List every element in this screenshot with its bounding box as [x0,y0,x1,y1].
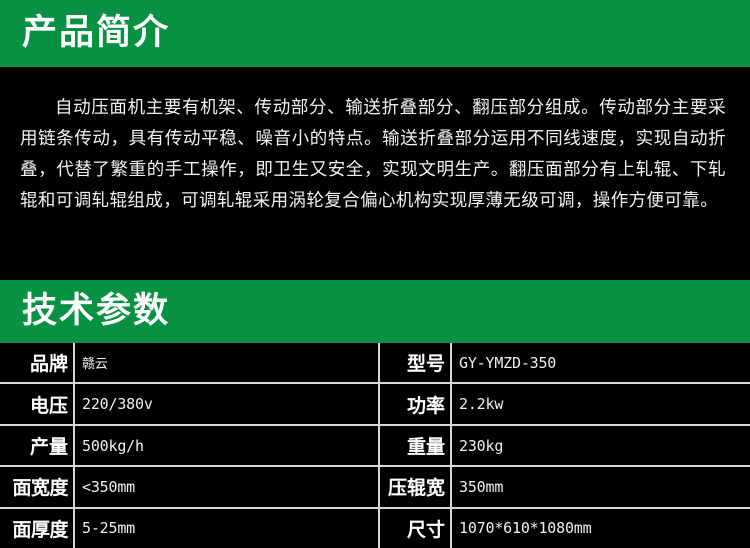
intro-section-title: 产品简介 [22,16,170,51]
table-row-left-pair: 面厚度5-25mm [0,509,378,548]
spec-value-right: 350mm [450,467,750,506]
spec-label-right: 重量 [378,426,450,465]
spec-value-right: 230kg [450,426,750,465]
table-row: 品牌赣云型号GY-YMZD-350 [0,343,750,382]
table-row-left-pair: 品牌赣云 [0,343,378,382]
spec-label-left: 产量 [0,426,73,465]
spec-value-right: 2.2kw [450,384,750,423]
spec-value-left: <350mm [73,467,378,506]
specs-section-title: 技术参数 [22,294,170,329]
spec-label-right: 功率 [378,384,450,423]
specs-section-banner: 技术参数 [0,280,750,343]
spec-value-left: 500kg/h [73,426,378,465]
table-row-right-pair: 重量230kg [378,426,750,465]
table-row: 产量500kg/h重量230kg [0,424,750,465]
spec-label-left: 品牌 [0,343,73,382]
table-row: 面宽度<350mm压辊宽350mm [0,465,750,506]
spec-value-left: 5-25mm [73,509,378,548]
spec-value-left: 赣云 [73,343,378,382]
spec-label-left: 电压 [0,384,73,423]
intro-paragraph-container: 自动压面机主要有机架、传动部分、输送折叠部分、翻压部分组成。传动部分主要采用链条… [0,67,750,280]
table-row-left-pair: 产量500kg/h [0,426,378,465]
spec-label-right: 型号 [378,343,450,382]
spec-label-left: 面宽度 [0,467,73,506]
intro-paragraph: 自动压面机主要有机架、传动部分、输送折叠部分、翻压部分组成。传动部分主要采用链条… [20,93,726,217]
table-row-right-pair: 压辊宽350mm [378,467,750,506]
table-row: 电压220/380v功率2.2kw [0,382,750,423]
spec-value-right: 1070*610*1080mm [450,509,750,548]
table-row-right-pair: 尺寸1070*610*1080mm [378,509,750,548]
spec-label-left: 面厚度 [0,509,73,548]
spec-label-right: 尺寸 [378,509,450,548]
table-row-right-pair: 功率2.2kw [378,384,750,423]
spec-value-right: GY-YMZD-350 [450,343,750,382]
specifications-table: 品牌赣云型号GY-YMZD-350电压220/380v功率2.2kw产量500k… [0,343,750,548]
spec-label-right: 压辊宽 [378,467,450,506]
table-row: 面厚度5-25mm尺寸1070*610*1080mm [0,507,750,548]
intro-section-banner: 产品简介 [0,0,750,67]
table-row-right-pair: 型号GY-YMZD-350 [378,343,750,382]
table-row-left-pair: 电压220/380v [0,384,378,423]
spec-value-left: 220/380v [73,384,378,423]
product-detail-page: 产品简介 自动压面机主要有机架、传动部分、输送折叠部分、翻压部分组成。传动部分主… [0,0,750,548]
table-row-left-pair: 面宽度<350mm [0,467,378,506]
